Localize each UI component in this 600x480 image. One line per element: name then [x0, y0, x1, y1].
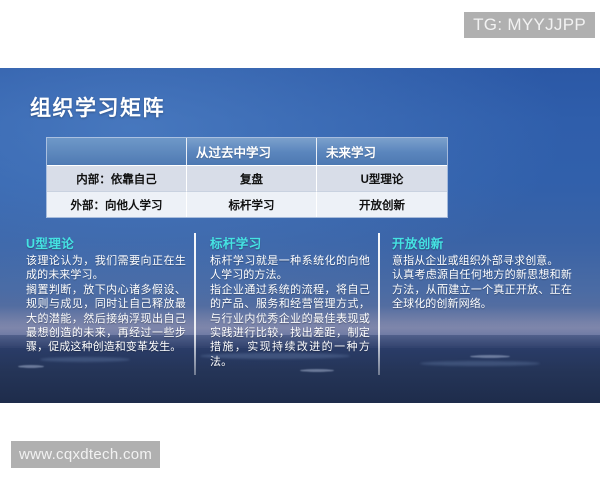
table-row: 内部：依靠自己 复盘 U型理论 — [47, 165, 447, 191]
table-header-row: 从过去中学习 未来学习 — [47, 138, 447, 165]
detail-column-paragraph: 指企业通过系统的流程，将自己的产品、服务和经营管理方式，与行业内优秀企业的最佳表… — [210, 283, 370, 369]
page-title: 组织学习矩阵 — [30, 92, 165, 122]
detail-column-paragraph: 认真考虑源自任何地方的新思想和新方法，从而建立一个真正开放、正在全球化的创新网络… — [392, 268, 572, 311]
table-cell-row-label: 内部：依靠自己 — [47, 165, 187, 191]
detail-column-benchmarking: 标杆学习 标杆学习就是一种系统化的向他人学习的方法。 指企业通过系统的流程，将自… — [210, 233, 370, 369]
learning-matrix-table: 从过去中学习 未来学习 内部：依靠自己 复盘 U型理论 外部：向他人学习 标杆学… — [47, 138, 447, 217]
detail-column-heading: 标杆学习 — [210, 233, 370, 252]
detail-column-u-theory: U型理论 该理论认为，我们需要向正在生成的未来学习。 搁置判断，放下内心诸多假设… — [26, 233, 186, 355]
table-cell-row-label: 外部：向他人学习 — [47, 191, 187, 217]
table-cell-value: 开放创新 — [317, 191, 447, 217]
table-header-corner — [47, 138, 187, 165]
table-header-past: 从过去中学习 — [187, 138, 317, 165]
detail-column-heading: U型理论 — [26, 233, 186, 252]
detail-column-paragraph: 该理论认为，我们需要向正在生成的未来学习。 — [26, 254, 186, 283]
detail-column-heading: 开放创新 — [392, 233, 572, 252]
table-cell-value: 标杆学习 — [187, 191, 317, 217]
table-cell-value: 复盘 — [187, 165, 317, 191]
watermark-bottom-left: www.cqxdtech.com — [11, 441, 160, 468]
column-divider — [378, 233, 380, 375]
watermark-top-right: TG: MYYJJPP — [464, 12, 595, 38]
column-divider — [194, 233, 196, 375]
presentation-slide: 组织学习矩阵 从过去中学习 未来学习 内部：依靠自己 复盘 U型理论 外部：向他… — [0, 68, 600, 403]
detail-column-paragraph: 搁置判断，放下内心诸多假设、规则与成见，同时让自己释放最大的潜能，然后接纳浮现出… — [26, 283, 186, 355]
table-header-future: 未来学习 — [317, 138, 447, 165]
detail-columns: U型理论 该理论认为，我们需要向正在生成的未来学习。 搁置判断，放下内心诸多假设… — [0, 233, 600, 383]
detail-column-paragraph: 意指从企业或组织外部寻求创意。 — [392, 254, 572, 268]
detail-column-open-innovation: 开放创新 意指从企业或组织外部寻求创意。 认真考虑源自任何地方的新思想和新方法，… — [392, 233, 572, 312]
table-cell-value: U型理论 — [317, 165, 447, 191]
detail-column-paragraph: 标杆学习就是一种系统化的向他人学习的方法。 — [210, 254, 370, 283]
table-row: 外部：向他人学习 标杆学习 开放创新 — [47, 191, 447, 217]
